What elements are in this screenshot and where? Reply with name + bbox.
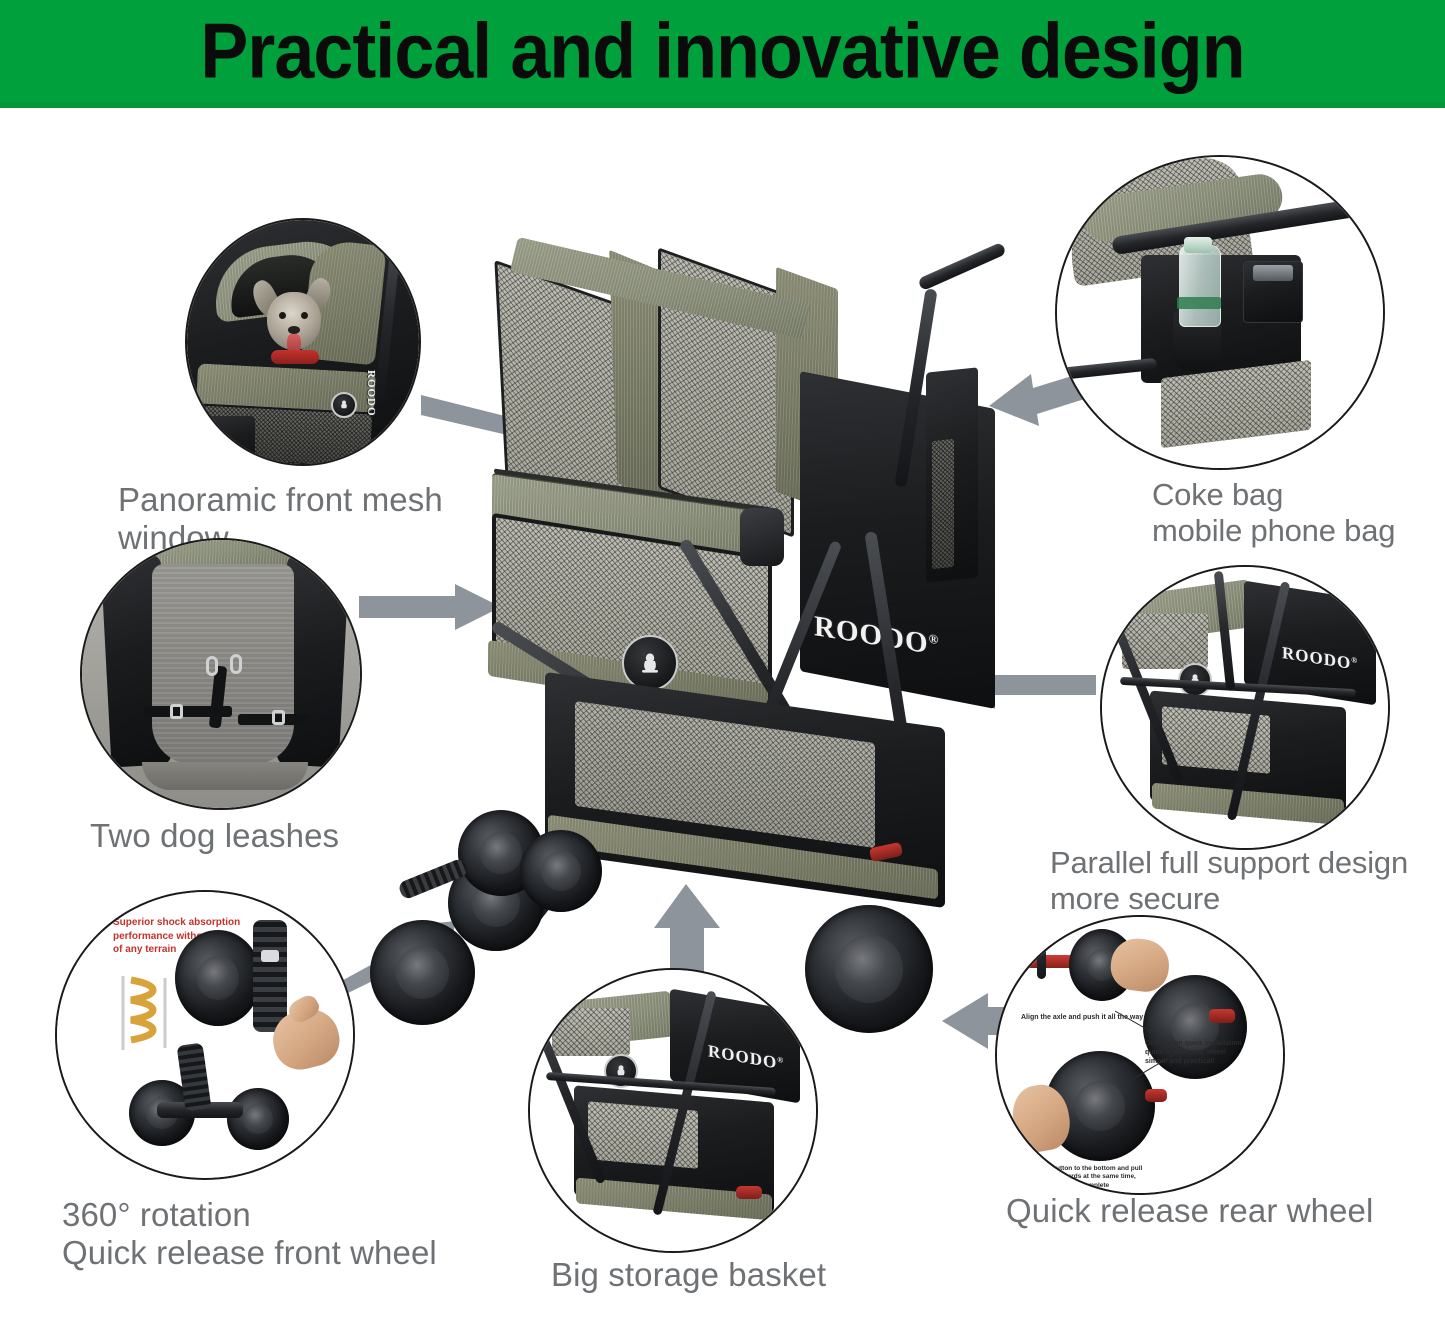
inset-quick-release-front-wheel: Superior shock absorption performance wi…	[55, 890, 355, 1180]
front-wheel-pair-right	[227, 1088, 289, 1150]
dog-logo-icon	[337, 398, 351, 412]
front-wheel-closeup-tire	[175, 930, 261, 1026]
label-coke-bag-mobile-phone-bag: Coke bag mobile phone bag	[1152, 477, 1445, 549]
axle-rod	[253, 920, 287, 1032]
frame-joint-hub	[740, 508, 784, 566]
label-parallel-full-support-design: Parallel full support design more secure	[1050, 845, 1445, 917]
handlebar	[917, 242, 1006, 291]
inset-panoramic-front-mesh-window: ROODO	[185, 218, 421, 466]
water-bottle	[1179, 245, 1221, 327]
leash-clip-2	[230, 654, 242, 674]
inset-quick-release-rear-wheel: Align the axle and push it all the way O…	[995, 915, 1285, 1195]
page-title-text: Practical and innovative design	[200, 11, 1244, 89]
label-quick-release-rear-wheel: Quick release rear wheel	[1006, 1192, 1386, 1230]
infographic-page: Practical and innovative design	[0, 0, 1445, 1344]
spring-icon	[115, 974, 175, 1052]
front-wheel-outer	[370, 920, 475, 1025]
inset-coke-bag-mobile-phone-bag	[1055, 155, 1385, 470]
inset-big-storage-basket: ROODO®	[528, 968, 818, 1253]
leash-clip-1	[206, 656, 218, 676]
inset-parallel-full-support-design: ROODO®	[1100, 565, 1390, 850]
callout-lines	[997, 917, 1283, 1193]
dog-photo	[249, 272, 341, 372]
main-product-stroller: ROODO®	[370, 230, 990, 1010]
inset-two-dog-leashes	[80, 538, 362, 810]
label-two-dog-leashes: Two dog leashes	[90, 817, 430, 855]
brand-badge-main	[622, 635, 678, 691]
rear-side-mesh-vent	[932, 439, 954, 569]
label-quick-release-front-wheel: 360° rotation Quick release front wheel	[62, 1196, 462, 1273]
front-wheel-upper-right	[520, 830, 602, 912]
bottle-label	[1177, 297, 1221, 309]
label-big-storage-basket: Big storage basket	[551, 1256, 881, 1294]
header-banner: Practical and innovative design	[0, 0, 1445, 108]
rear-wheel	[805, 905, 933, 1033]
page-title: Practical and innovative design	[0, 13, 1445, 91]
phone-in-pocket	[1253, 265, 1293, 281]
dog-logo-icon	[635, 648, 665, 678]
banner-bottom-edge	[0, 102, 1445, 108]
bottle-cap	[1184, 237, 1212, 253]
